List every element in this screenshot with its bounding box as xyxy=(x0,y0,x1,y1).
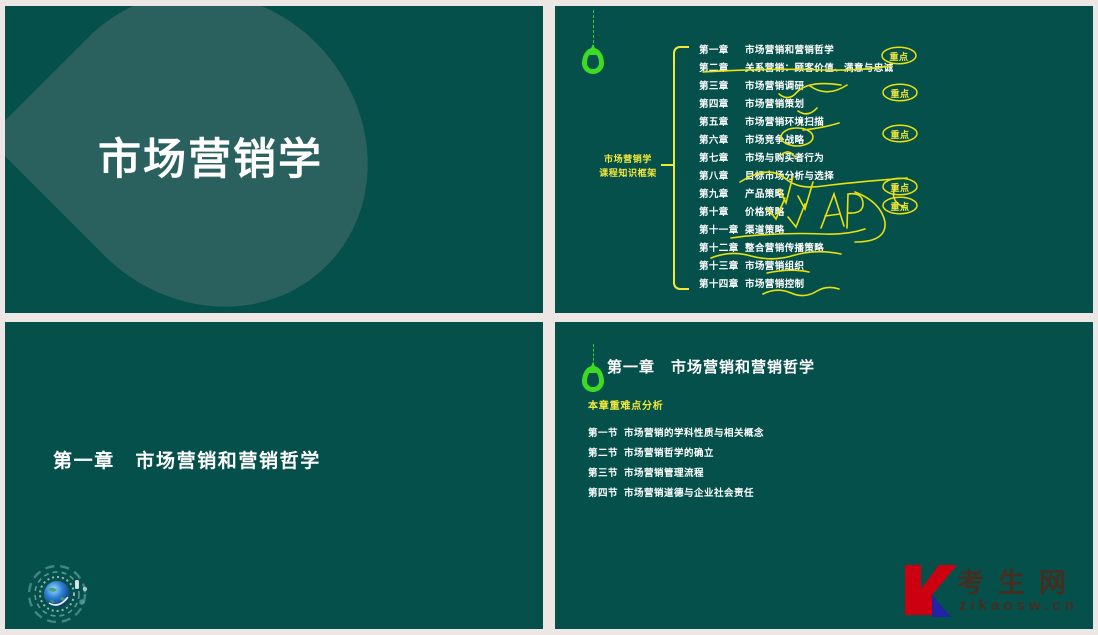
slide-deck: 市场营销学 市场营销学 课程知识框架 第一章市场营销和营销哲学第二章关系营销：顾… xyxy=(0,0,1098,635)
section-title: 市场营销管理流程 xyxy=(624,468,704,479)
watermark: 考生网 zikaosw.cn xyxy=(899,559,1081,621)
section-row[interactable]: 第二节市场营销哲学的确立 xyxy=(588,445,764,465)
section-number: 第四节 xyxy=(588,488,618,499)
slide-1-cover[interactable]: 市场营销学 xyxy=(5,6,543,313)
outline-title: 第一章 市场营销和营销哲学 xyxy=(607,356,815,377)
section-row[interactable]: 第三节市场营销管理流程 xyxy=(588,465,764,485)
globe-icon xyxy=(19,558,95,626)
k-logo-icon xyxy=(899,559,959,621)
slide-4-chapter-outline[interactable]: 第一章 市场营销和营销哲学 本章重难点分析 第一节市场营销的学科性质与相关概念第… xyxy=(555,322,1093,629)
key-point-label: 重点 xyxy=(881,181,919,194)
key-point-label: 重点 xyxy=(881,200,919,213)
handwritten-annotations xyxy=(555,6,1093,313)
section-number: 第一节 xyxy=(588,428,618,439)
watermark-url: zikaosw.cn xyxy=(959,597,1078,614)
section-row[interactable]: 第一节市场营销的学科性质与相关概念 xyxy=(588,425,764,445)
cover-title: 市场营销学 xyxy=(98,139,323,182)
section-title: 市场营销的学科性质与相关概念 xyxy=(624,428,764,439)
section-number: 第三节 xyxy=(588,468,618,479)
droplet-icon xyxy=(582,366,604,392)
section-title: 市场营销道德与企业社会责任 xyxy=(624,488,754,499)
key-point-label: 重点 xyxy=(880,50,918,63)
section-list: 第一节市场营销的学科性质与相关概念第二节市场营销哲学的确立第三节市场营销管理流程… xyxy=(588,425,764,505)
slide-3-chapter-divider[interactable]: 第一章 市场营销和营销哲学 xyxy=(5,322,543,629)
section-title: 市场营销哲学的确立 xyxy=(624,448,714,459)
outline-subtitle: 本章重难点分析 xyxy=(588,397,664,412)
slide-2-framework[interactable]: 市场营销学 课程知识框架 第一章市场营销和营销哲学第二章关系营销：顾客价值、满意… xyxy=(555,6,1093,313)
key-point-label: 重点 xyxy=(881,87,919,100)
section-row[interactable]: 第四节市场营销道德与企业社会责任 xyxy=(588,485,764,505)
section-number: 第二节 xyxy=(588,448,618,459)
chapter-divider-title: 第一章 市场营销和营销哲学 xyxy=(53,446,321,473)
watermark-brand: 考生网 xyxy=(957,561,1080,600)
key-point-label: 重点 xyxy=(881,128,919,141)
